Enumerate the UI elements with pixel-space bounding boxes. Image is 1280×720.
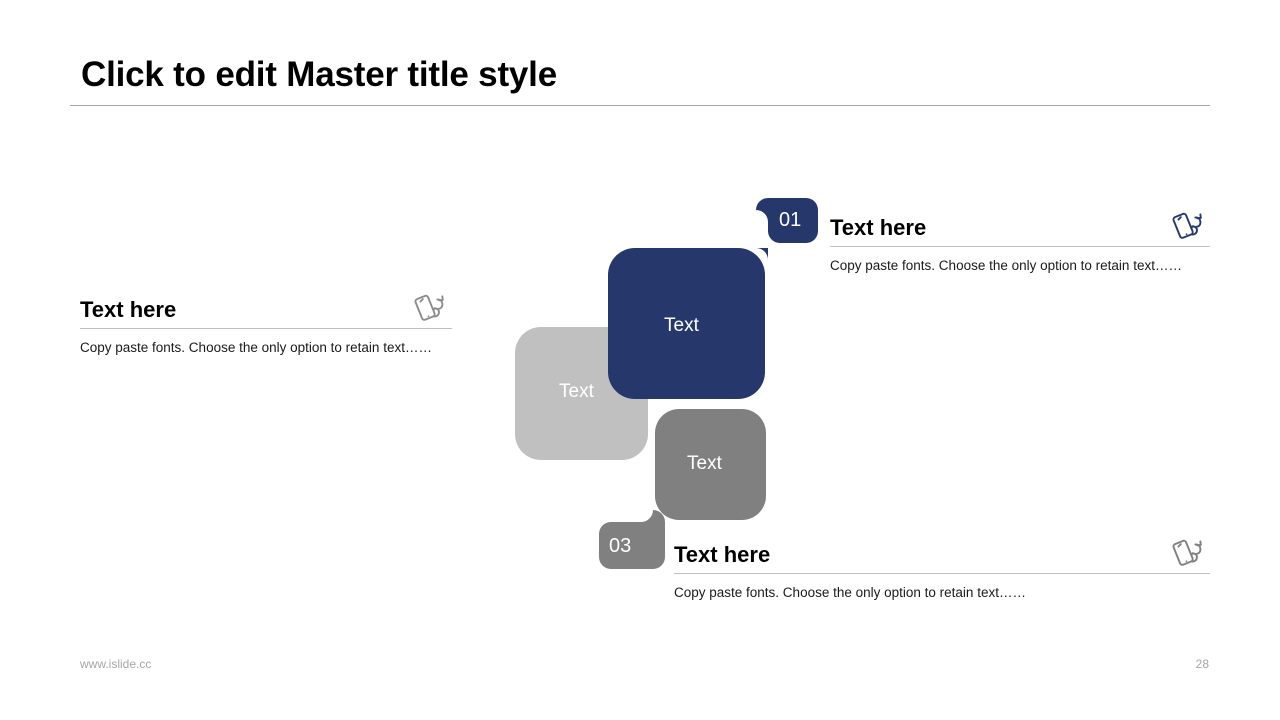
stair-step-diagram: Text 01 Text 02 Text 03: [450, 190, 830, 580]
page-title[interactable]: Click to edit Master title style: [81, 56, 1210, 95]
slide-canvas: Click to edit Master title style: [0, 0, 1280, 720]
content-block-03: Text here Copy paste fonts. Choose the o…: [674, 533, 1210, 606]
content-block-03-header: Text here: [674, 533, 1210, 567]
content-block-03-body[interactable]: Copy paste fonts. Choose the only option…: [674, 580, 1210, 606]
content-block-01: Text here Copy paste fonts. Choose the o…: [830, 206, 1210, 279]
badge-03-shape: [599, 510, 665, 569]
content-block-01-divider: [830, 246, 1210, 247]
rotate-phone-icon: [414, 288, 452, 326]
content-block-02: Text here Copy paste fonts. Choose the o…: [80, 288, 452, 361]
content-block-03-heading[interactable]: Text here: [674, 542, 770, 567]
diagram-tile-01[interactable]: [608, 198, 818, 399]
tile-01-body: [608, 248, 765, 399]
slide-title-block: Click to edit Master title style: [70, 56, 1210, 106]
content-block-01-heading[interactable]: Text here: [830, 215, 926, 240]
tile-03-body: [655, 409, 766, 520]
content-block-02-heading[interactable]: Text here: [80, 297, 176, 322]
footer-url[interactable]: www.islide.cc: [80, 657, 151, 671]
page-number: 28: [1175, 657, 1209, 671]
title-divider: [70, 105, 1210, 106]
badge-01-shape: [756, 198, 818, 243]
content-block-03-divider: [674, 573, 1210, 574]
content-block-02-body[interactable]: Copy paste fonts. Choose the only option…: [80, 335, 452, 361]
content-block-01-header: Text here: [830, 206, 1210, 240]
content-block-02-divider: [80, 328, 452, 329]
rotate-phone-icon: [1172, 533, 1210, 571]
rotate-phone-icon: [1172, 206, 1210, 244]
content-block-01-body[interactable]: Copy paste fonts. Choose the only option…: [830, 253, 1202, 279]
content-block-02-header: Text here: [80, 288, 452, 322]
